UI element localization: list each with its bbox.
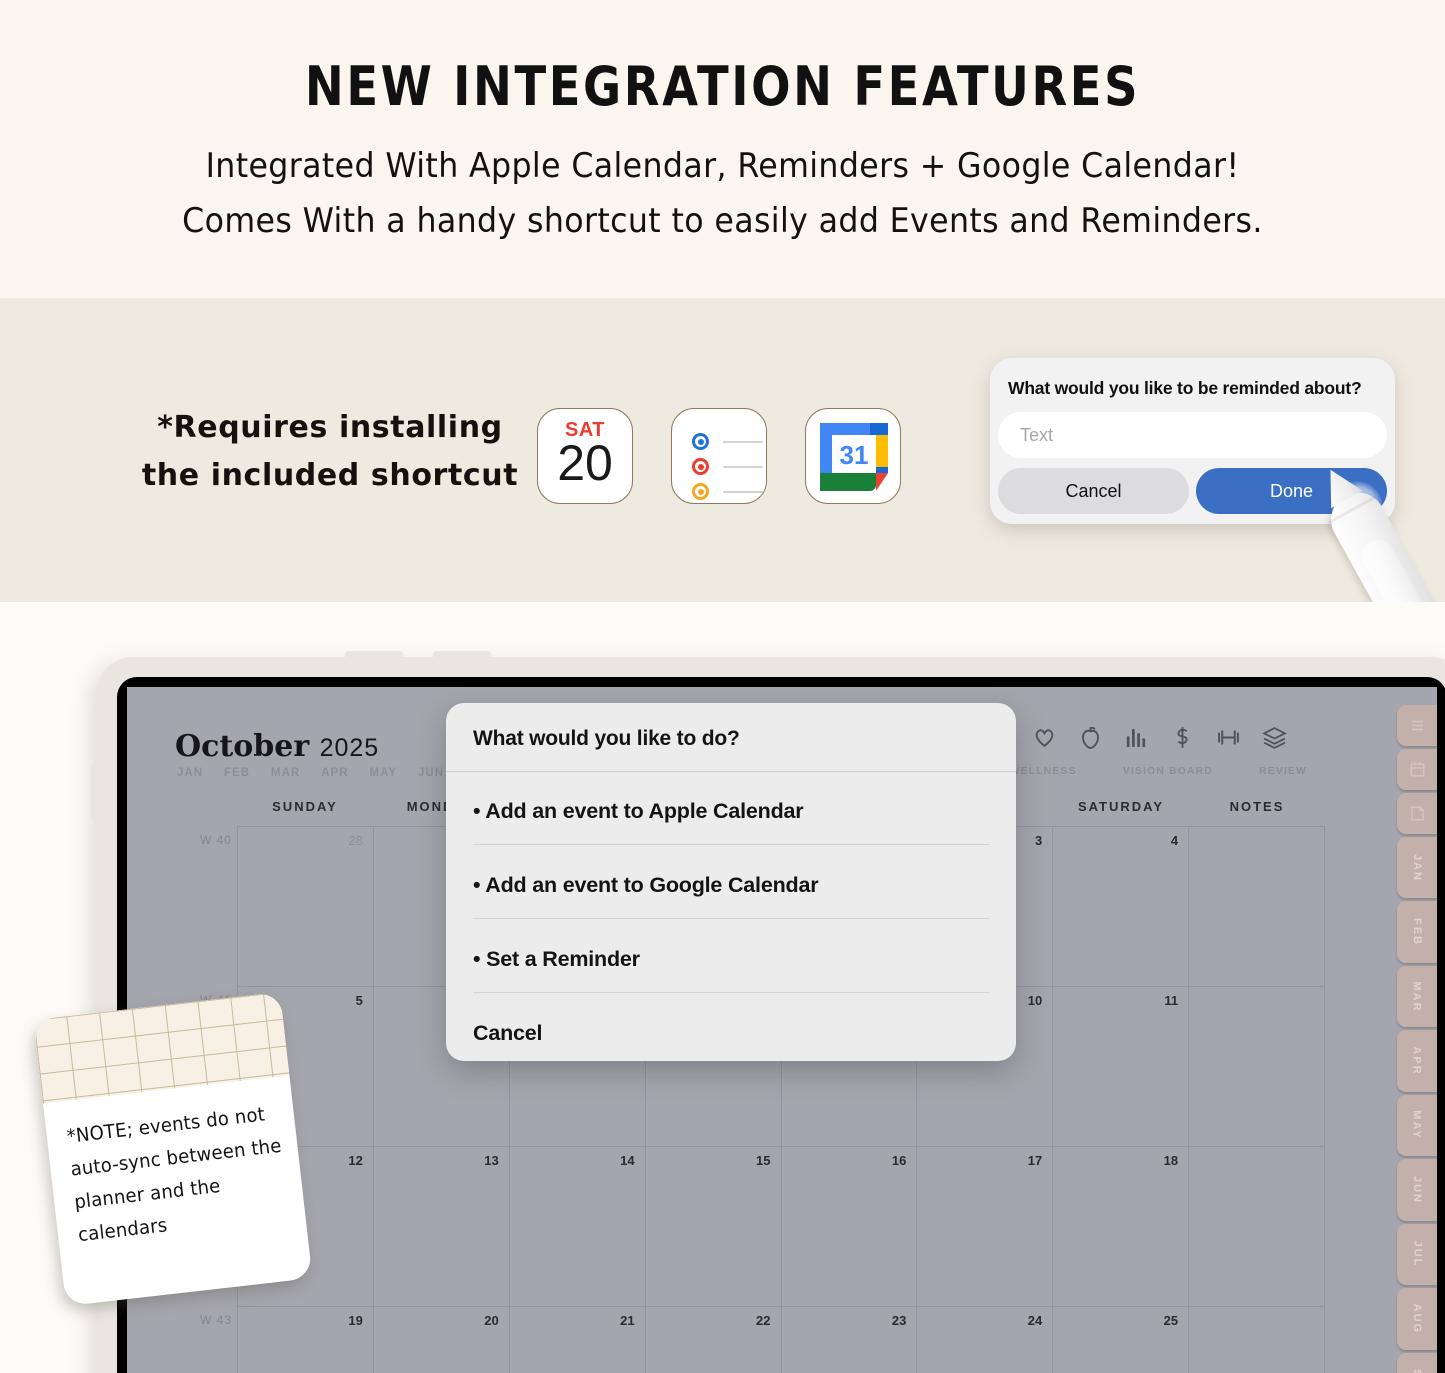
day-number: 17 — [1028, 1153, 1042, 1168]
svg-text:31: 31 — [840, 440, 869, 470]
side-tab-jul[interactable]: JUL — [1397, 1224, 1437, 1285]
day-number: 19 — [348, 1313, 362, 1328]
apple-calendar-day: 20 — [538, 434, 632, 492]
dollar-icon[interactable] — [1170, 725, 1195, 750]
dumbbell-icon[interactable] — [1216, 725, 1241, 750]
calendar-day-cell[interactable]: 14 — [510, 1147, 646, 1307]
note-sticker: *NOTE; events do not auto-sync between t… — [33, 992, 312, 1306]
day-number: 10 — [1028, 993, 1042, 1008]
side-tab-sep[interactable]: SEP — [1397, 1353, 1437, 1373]
calendar-day-cell[interactable]: 22 — [646, 1307, 782, 1373]
toolbar-label-wellness[interactable]: WELLNESS — [1010, 765, 1077, 777]
week-number-label: W 43 — [186, 1313, 232, 1327]
month-tab-apr[interactable]: APR — [321, 767, 348, 779]
day-number: 3 — [1035, 833, 1042, 848]
day-number: 14 — [620, 1153, 634, 1168]
notes-cell[interactable] — [1189, 1147, 1325, 1307]
reminder-cancel-button[interactable]: Cancel — [998, 468, 1189, 514]
planner-month-title: October 2025 — [175, 729, 379, 764]
day-number: 4 — [1171, 833, 1178, 848]
apple-calendar-icon: SAT 20 — [537, 408, 633, 504]
side-tab-menu-icon[interactable] — [1397, 705, 1437, 746]
side-tab-note-icon[interactable] — [1397, 793, 1437, 834]
side-tab-jan[interactable]: JAN — [1397, 837, 1437, 898]
power-button[interactable] — [91, 765, 99, 819]
side-tab-label: JUN — [1411, 1176, 1423, 1204]
day-number: 5 — [356, 993, 363, 1008]
reminder-dialog-question: What would you like to be reminded about… — [1008, 378, 1361, 399]
month-tab-mar[interactable]: MAR — [271, 767, 300, 779]
calendar-week-row: W 4212131415161718 — [238, 1147, 1325, 1307]
side-tab-strip: JANFEBMARAPRMAYJUNJULAUGSEP — [1397, 705, 1437, 1373]
notes-cell[interactable] — [1189, 1307, 1325, 1373]
bar-chart-icon[interactable] — [1124, 725, 1149, 750]
month-tab-jan[interactable]: JAN — [177, 767, 203, 779]
action-sheet-option-2[interactable]: • Set a Reminder — [473, 947, 640, 972]
action-sheet-divider — [473, 992, 989, 993]
google-calendar-icon: 31 — [805, 408, 901, 504]
calendar-day-cell[interactable]: 25 — [1053, 1307, 1189, 1373]
side-tab-aug[interactable]: AUG — [1397, 1288, 1437, 1349]
planner-year: 2025 — [320, 734, 380, 762]
notes-cell[interactable] — [1189, 987, 1325, 1147]
day-number: 12 — [348, 1153, 362, 1168]
side-tab-jun[interactable]: JUN — [1397, 1159, 1437, 1220]
day-number: 16 — [892, 1153, 906, 1168]
menu-icon — [1408, 716, 1427, 735]
day-number: 21 — [620, 1313, 634, 1328]
calendar-day-cell[interactable]: 16 — [782, 1147, 918, 1307]
day-header-sunday: SUNDAY — [237, 799, 373, 823]
month-tab-feb[interactable]: FEB — [224, 767, 250, 779]
toolbar-label-vision-board[interactable]: VISION BOARD — [1123, 765, 1213, 777]
month-tab-may[interactable]: MAY — [370, 767, 398, 779]
volume-up-button[interactable] — [345, 651, 403, 659]
day-number: 18 — [1164, 1153, 1178, 1168]
day-header-saturday: SATURDAY — [1053, 799, 1189, 823]
day-number: 11 — [1164, 993, 1178, 1008]
calendar-day-cell[interactable]: 21 — [510, 1307, 646, 1373]
note-sticker-text: *NOTE; events do not auto-sync between t… — [65, 1097, 291, 1252]
action-sheet-divider — [473, 918, 989, 919]
calendar-icon — [1408, 760, 1427, 779]
volume-down-button[interactable] — [433, 651, 491, 659]
side-tab-feb[interactable]: FEB — [1397, 901, 1437, 962]
calendar-day-cell[interactable]: 28 — [238, 827, 374, 987]
notes-cell[interactable] — [1189, 827, 1325, 987]
side-tab-calendar-icon[interactable] — [1397, 749, 1437, 790]
side-tab-label: FEB — [1411, 918, 1423, 946]
side-tab-label: JUL — [1411, 1241, 1423, 1268]
reminder-text-input[interactable] — [998, 412, 1387, 458]
calendar-day-cell[interactable]: 24 — [917, 1307, 1053, 1373]
day-number: 22 — [756, 1313, 770, 1328]
calendar-day-cell[interactable]: 13 — [374, 1147, 510, 1307]
side-tab-label: MAY — [1411, 1111, 1423, 1140]
side-tab-label: JAN — [1411, 854, 1423, 882]
side-tab-apr[interactable]: APR — [1397, 1030, 1437, 1091]
day-number: 24 — [1028, 1313, 1042, 1328]
side-tab-may[interactable]: MAY — [1397, 1095, 1437, 1156]
action-sheet-option-0[interactable]: • Add an event to Apple Calendar — [473, 799, 803, 824]
page-title: NEW INTEGRATION FEATURES — [101, 55, 1344, 118]
action-sheet-cancel-button[interactable]: Cancel — [473, 1021, 542, 1046]
toolbar-label-review[interactable]: REVIEW — [1259, 765, 1307, 777]
side-tab-label: SEP — [1411, 1369, 1423, 1373]
apple-icon[interactable] — [1078, 725, 1103, 750]
calendar-day-cell[interactable]: 19 — [238, 1307, 374, 1373]
header-subtitle-2: Comes With a handy shortcut to easily ad… — [51, 201, 1395, 241]
calendar-day-cell[interactable]: 4 — [1053, 827, 1189, 987]
action-sheet-divider — [473, 844, 989, 845]
google-calendar-glyph: 31 — [820, 423, 888, 491]
action-sheet-option-1[interactable]: • Add an event to Google Calendar — [473, 873, 818, 898]
side-tab-label: MAR — [1411, 981, 1423, 1012]
side-tab-mar[interactable]: MAR — [1397, 966, 1437, 1027]
day-number: 13 — [484, 1153, 498, 1168]
day-number: 28 — [348, 833, 362, 848]
heart-icon[interactable] — [1032, 725, 1057, 750]
day-number: 15 — [756, 1153, 770, 1168]
calendar-day-cell[interactable]: 17 — [917, 1147, 1053, 1307]
calendar-day-cell[interactable]: 11 — [1053, 987, 1189, 1147]
week-number-label: W 40 — [186, 833, 232, 847]
calendar-week-row: W 4319202122232425 — [238, 1307, 1325, 1373]
action-sheet-divider — [446, 771, 1016, 772]
side-tab-label: AUG — [1411, 1304, 1423, 1334]
side-tab-label: APR — [1411, 1046, 1423, 1075]
reminders-icon — [671, 408, 767, 504]
calendar-day-cell[interactable]: 18 — [1053, 1147, 1189, 1307]
layers-icon[interactable] — [1262, 725, 1287, 750]
action-sheet-title: What would you like to do? — [473, 727, 740, 751]
requires-shortcut-note: *Requires installing the included shortc… — [140, 404, 520, 500]
month-tab-jun[interactable]: JUN — [418, 767, 444, 779]
day-number: 25 — [1164, 1313, 1178, 1328]
calendar-day-cell[interactable]: 23 — [782, 1307, 918, 1373]
action-sheet-dialog: What would you like to do? • Add an even… — [446, 703, 1016, 1061]
day-number: 20 — [484, 1313, 498, 1328]
header-band: NEW INTEGRATION FEATURES Integrated With… — [0, 0, 1445, 298]
header-subtitle-1: Integrated With Apple Calendar, Reminder… — [51, 146, 1395, 186]
calendar-day-cell[interactable]: 20 — [374, 1307, 510, 1373]
planner-month-name: October — [175, 729, 309, 764]
note-icon — [1408, 804, 1427, 823]
day-number: 23 — [892, 1313, 906, 1328]
day-header-notes: NOTES — [1189, 799, 1325, 823]
calendar-day-cell[interactable]: 15 — [646, 1147, 782, 1307]
